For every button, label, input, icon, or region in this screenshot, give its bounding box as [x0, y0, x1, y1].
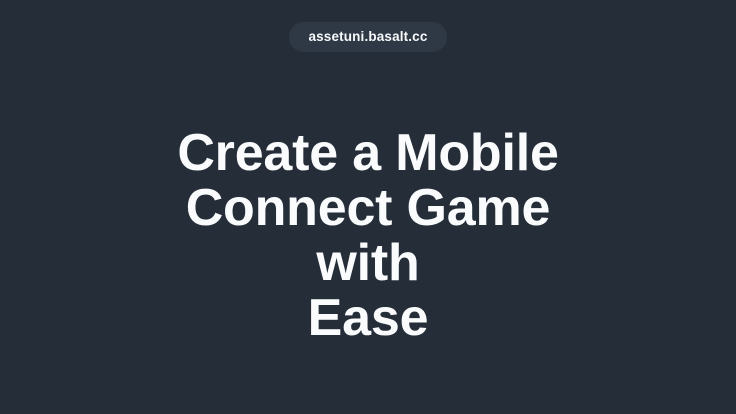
hero-section: Create a Mobile Connect Game with Ease	[133, 126, 603, 346]
page-title: Create a Mobile Connect Game with Ease	[133, 126, 603, 346]
url-pill-label: assetuni.basalt.cc	[308, 30, 427, 44]
url-pill-badge[interactable]: assetuni.basalt.cc	[289, 22, 446, 52]
page-root: assetuni.basalt.cc Create a Mobile Conne…	[0, 0, 736, 414]
badge-row: assetuni.basalt.cc	[0, 22, 736, 52]
